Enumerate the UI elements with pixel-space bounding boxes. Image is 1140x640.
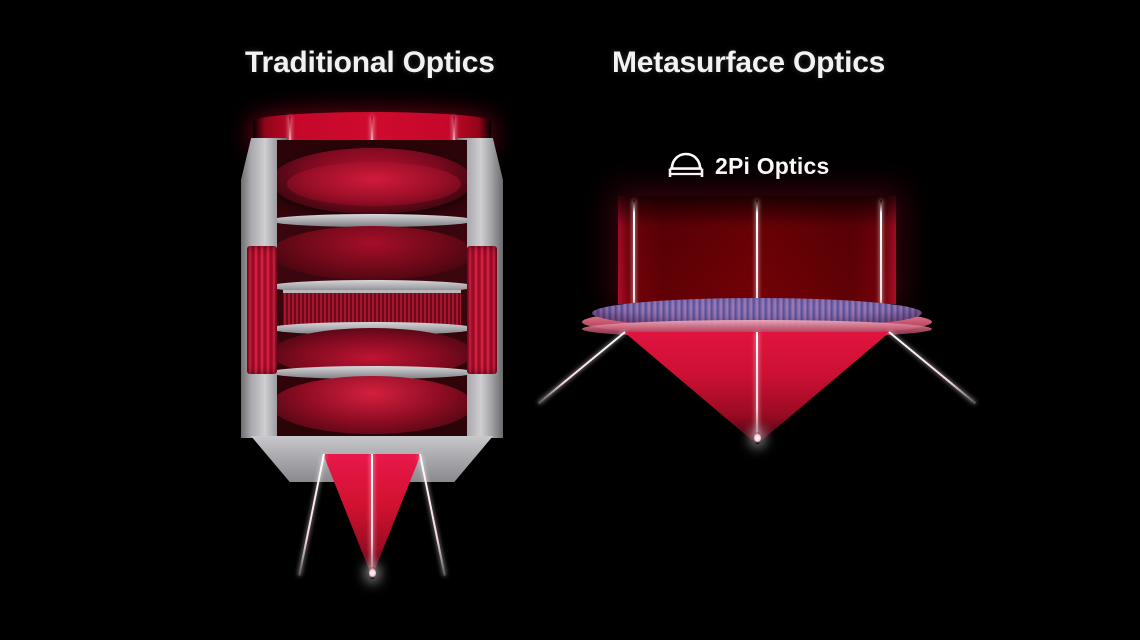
lens-stack-cavity [277, 140, 467, 436]
cone-edge-right [888, 331, 976, 404]
focal-point-traditional [369, 567, 376, 579]
scene-stage: Traditional Optics [0, 0, 1140, 640]
lens-barrel-housing [237, 138, 507, 456]
cone-edge-center [756, 332, 758, 438]
focal-point-metasurface [754, 432, 761, 444]
lens-element-4 [277, 376, 467, 434]
traditional-lens-assembly [237, 112, 507, 472]
brand-logo: 2Pi Optics [666, 148, 829, 185]
page-title-metasurface: Metasurface Optics [612, 46, 885, 80]
page-title-traditional: Traditional Optics [245, 46, 495, 80]
panel-traditional-optics: Traditional Optics [0, 0, 570, 640]
lens-element-2 [277, 226, 467, 280]
cone-edge-center [371, 454, 373, 572]
focus-grip-left [247, 246, 277, 374]
lens-element-1-inner [287, 162, 461, 206]
focus-grip-right [467, 246, 497, 374]
panel-metasurface-optics: Metasurface Optics 2Pi Optics [570, 0, 1140, 640]
brand-logo-text: 2Pi Optics [715, 153, 829, 180]
metasurface-lens-assembly [578, 196, 938, 436]
dome-lens-icon [666, 148, 706, 185]
